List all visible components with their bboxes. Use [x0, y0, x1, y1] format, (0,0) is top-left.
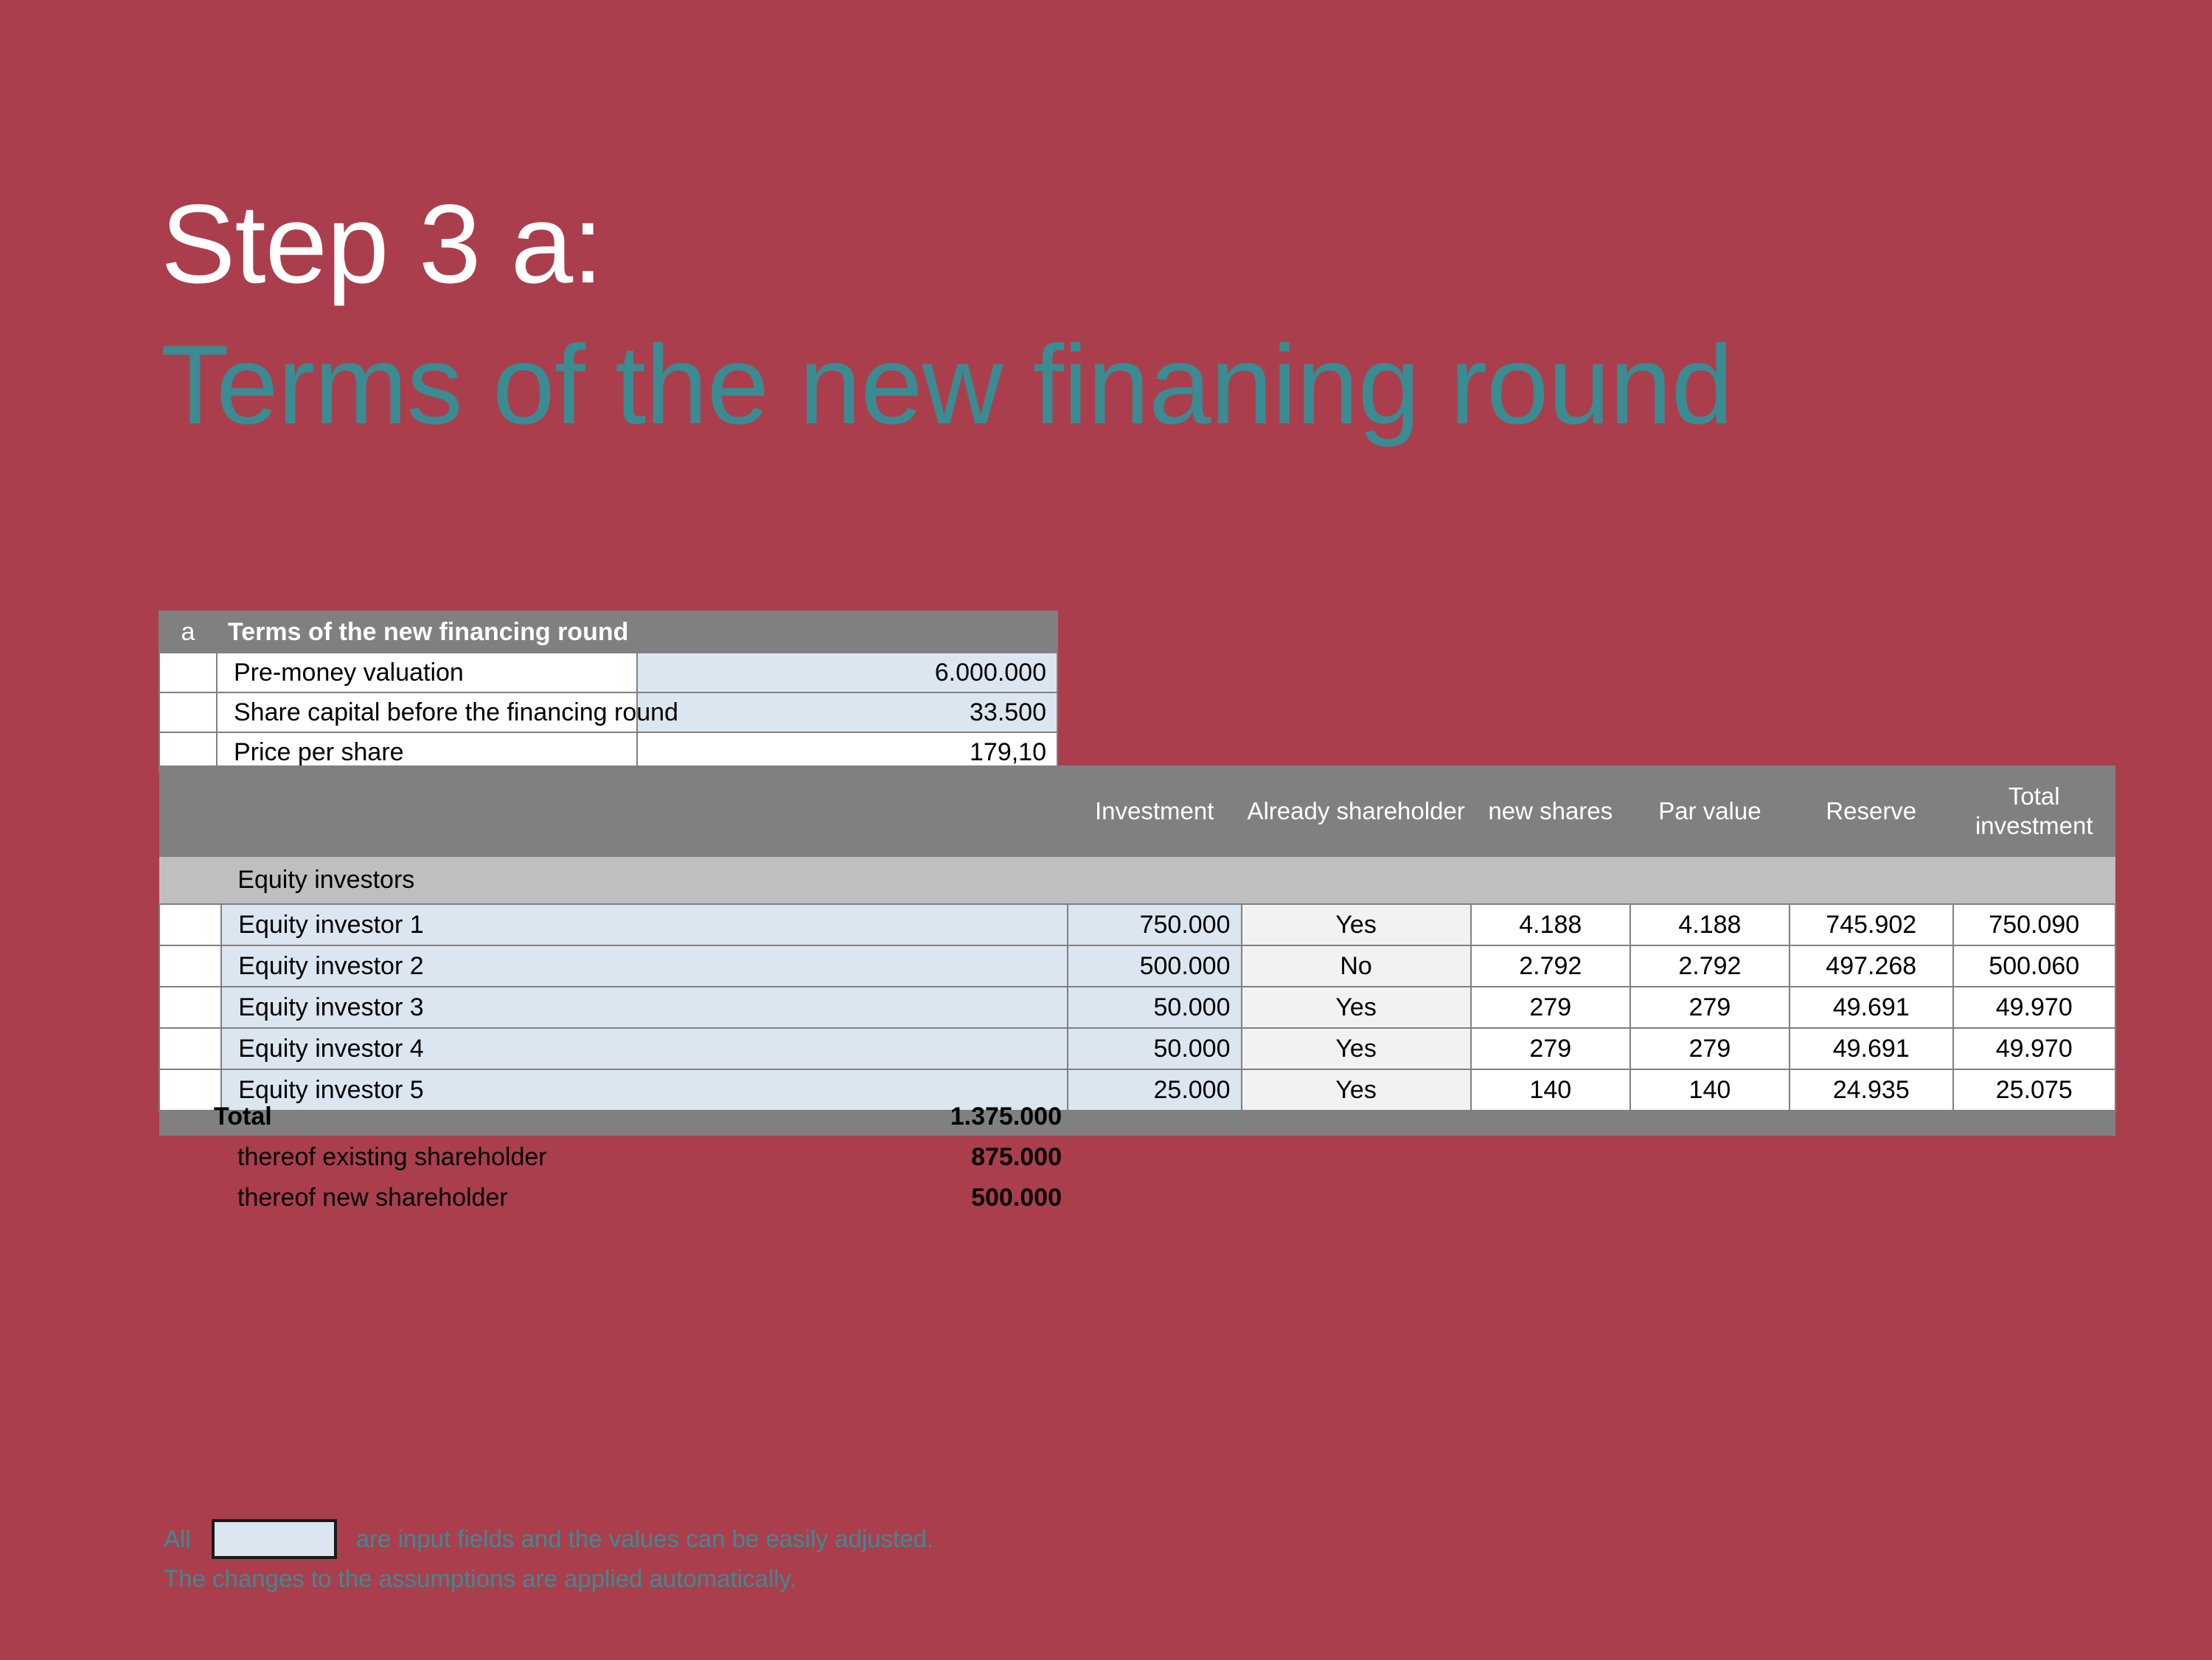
row-index-cell: [159, 1028, 221, 1069]
colhead-new-shares: new shares: [1471, 765, 1630, 857]
row-index-cell: [159, 987, 221, 1028]
value-investor-2-new-shares: 2.792: [1471, 945, 1630, 987]
value-investor-2-total-investment: 500.060: [1953, 945, 2116, 987]
colhead-spacer-name: [221, 765, 1068, 857]
row-index-cell: [159, 692, 217, 732]
totals-value-new-shareholder: 500.000: [971, 1184, 1062, 1212]
bottom-bar-segment: [1953, 1111, 2116, 1136]
value-investor-2-reserve: 497.268: [1790, 945, 1953, 987]
value-investor-5-par-value: 140: [1630, 1069, 1790, 1111]
input-premoney-valuation[interactable]: 6.000.000: [637, 653, 1057, 692]
input-investor-3-already-shareholder[interactable]: Yes: [1242, 987, 1471, 1028]
colhead-reserve: Reserve: [1790, 765, 1953, 857]
row-index-cell: [159, 904, 221, 945]
input-investor-3-name[interactable]: Equity investor 3: [221, 987, 1068, 1028]
slide-title-block: Step 3 a: Terms of the new finaning roun…: [161, 188, 2078, 445]
totals-label-existing-shareholder: thereof existing shareholder: [214, 1143, 547, 1172]
section-index-cell: [159, 857, 221, 904]
slide-canvas: Step 3 a: Terms of the new finaning roun…: [0, 0, 2212, 1660]
legend-suffix: are input fields and the values can be e…: [356, 1519, 933, 1558]
table-row: Share capital before the financing round…: [159, 692, 1057, 732]
totals-row-total: Total 1.375.000: [214, 1102, 1062, 1143]
input-investor-2-name[interactable]: Equity investor 2: [221, 945, 1068, 987]
value-investor-5-total-investment: 25.075: [1953, 1069, 2116, 1111]
input-field-color-swatch: [212, 1519, 337, 1559]
value-investor-1-new-shares: 4.188: [1471, 904, 1630, 945]
input-investor-2-investment[interactable]: 500.000: [1068, 945, 1242, 987]
value-investor-3-new-shares: 279: [1471, 987, 1630, 1028]
bottom-bar-segment: [1242, 1111, 1471, 1136]
value-investor-4-total-investment: 49.970: [1953, 1028, 2116, 1069]
bottom-bar-segment: [1790, 1111, 1953, 1136]
row-label-share-capital-before: Share capital before the financing round: [217, 692, 637, 732]
table-row: Equity investor 1 750.000 Yes 4.188 4.18…: [159, 904, 2115, 945]
investors-section-row: Equity investors: [159, 857, 2115, 904]
section-label-equity-investors: Equity investors: [221, 857, 2115, 904]
totals-row-existing-shareholder: thereof existing shareholder 875.000: [214, 1143, 1062, 1184]
investors-column-header-row: Investment Already shareholder new share…: [159, 765, 2115, 857]
bottom-bar-segment: [1630, 1111, 1790, 1136]
terms-table-header-row: a Terms of the new financing round: [159, 611, 1057, 653]
value-investor-4-par-value: 279: [1630, 1028, 1790, 1069]
value-investor-1-total-investment: 750.090: [1953, 904, 2116, 945]
input-investor-1-already-shareholder[interactable]: Yes: [1242, 904, 1471, 945]
equity-investors-table: Investment Already shareholder new share…: [159, 765, 2116, 1136]
input-share-capital-before[interactable]: 33.500: [637, 692, 1057, 732]
table-row: Pre-money valuation 6.000.000: [159, 653, 1057, 692]
row-label-premoney-valuation: Pre-money valuation: [217, 653, 637, 692]
input-investor-5-investment[interactable]: 25.000: [1068, 1069, 1242, 1111]
value-investor-1-par-value: 4.188: [1630, 904, 1790, 945]
input-investor-2-already-shareholder[interactable]: No: [1242, 945, 1471, 987]
bottom-bar-segment: [1471, 1111, 1630, 1136]
page-subtitle: Terms of the new finaning round: [161, 327, 2078, 445]
input-investor-4-investment[interactable]: 50.000: [1068, 1028, 1242, 1069]
input-investor-1-investment[interactable]: 750.000: [1068, 904, 1242, 945]
terms-section-letter: a: [159, 611, 217, 653]
legend-block: All are input fields and the values can …: [164, 1519, 933, 1598]
totals-value-existing-shareholder: 875.000: [971, 1143, 1062, 1172]
terms-table: a Terms of the new financing round Pre-m…: [159, 611, 1058, 773]
input-investor-1-name[interactable]: Equity investor 1: [221, 904, 1068, 945]
value-investor-5-new-shares: 140: [1471, 1069, 1630, 1111]
input-investor-4-name[interactable]: Equity investor 4: [221, 1028, 1068, 1069]
colhead-already-shareholder: Already shareholder: [1242, 765, 1471, 857]
legend-line-2: The changes to the assumptions are appli…: [164, 1559, 933, 1598]
row-index-cell: [159, 945, 221, 987]
totals-value-total: 1.375.000: [950, 1102, 1062, 1131]
bottom-bar-segment: [1068, 1111, 1242, 1136]
value-investor-3-reserve: 49.691: [1790, 987, 1953, 1028]
colhead-total-investment: Total investment: [1953, 765, 2116, 857]
totals-block: Total 1.375.000 thereof existing shareho…: [214, 1102, 1062, 1224]
colhead-investment: Investment: [1068, 765, 1242, 857]
colhead-par-value: Par value: [1630, 765, 1790, 857]
legend-prefix: All: [164, 1519, 191, 1558]
totals-row-new-shareholder: thereof new shareholder 500.000: [214, 1184, 1062, 1224]
input-investor-5-already-shareholder[interactable]: Yes: [1242, 1069, 1471, 1111]
value-investor-1-reserve: 745.902: [1790, 904, 1953, 945]
row-index-cell: [159, 653, 217, 692]
input-investor-3-investment[interactable]: 50.000: [1068, 987, 1242, 1028]
colhead-spacer-index: [159, 765, 221, 857]
row-index-cell: [159, 1069, 221, 1111]
value-investor-5-reserve: 24.935: [1790, 1069, 1953, 1111]
table-row: Equity investor 2 500.000 No 2.792 2.792…: [159, 945, 2115, 987]
terms-section-title: Terms of the new financing round: [217, 611, 1057, 653]
totals-label-new-shareholder: thereof new shareholder: [214, 1184, 508, 1212]
table-row: Equity investor 4 50.000 Yes 279 279 49.…: [159, 1028, 2115, 1069]
value-investor-4-reserve: 49.691: [1790, 1028, 1953, 1069]
input-investor-4-already-shareholder[interactable]: Yes: [1242, 1028, 1471, 1069]
table-row: Equity investor 3 50.000 Yes 279 279 49.…: [159, 987, 2115, 1028]
page-title: Step 3 a:: [161, 188, 2078, 300]
value-investor-2-par-value: 2.792: [1630, 945, 1790, 987]
legend-line-1: All are input fields and the values can …: [164, 1519, 933, 1559]
totals-label-total: Total: [214, 1102, 272, 1131]
bottom-bar-segment: [159, 1111, 221, 1136]
value-investor-4-new-shares: 279: [1471, 1028, 1630, 1069]
value-investor-3-total-investment: 49.970: [1953, 987, 2116, 1028]
value-investor-3-par-value: 279: [1630, 987, 1790, 1028]
